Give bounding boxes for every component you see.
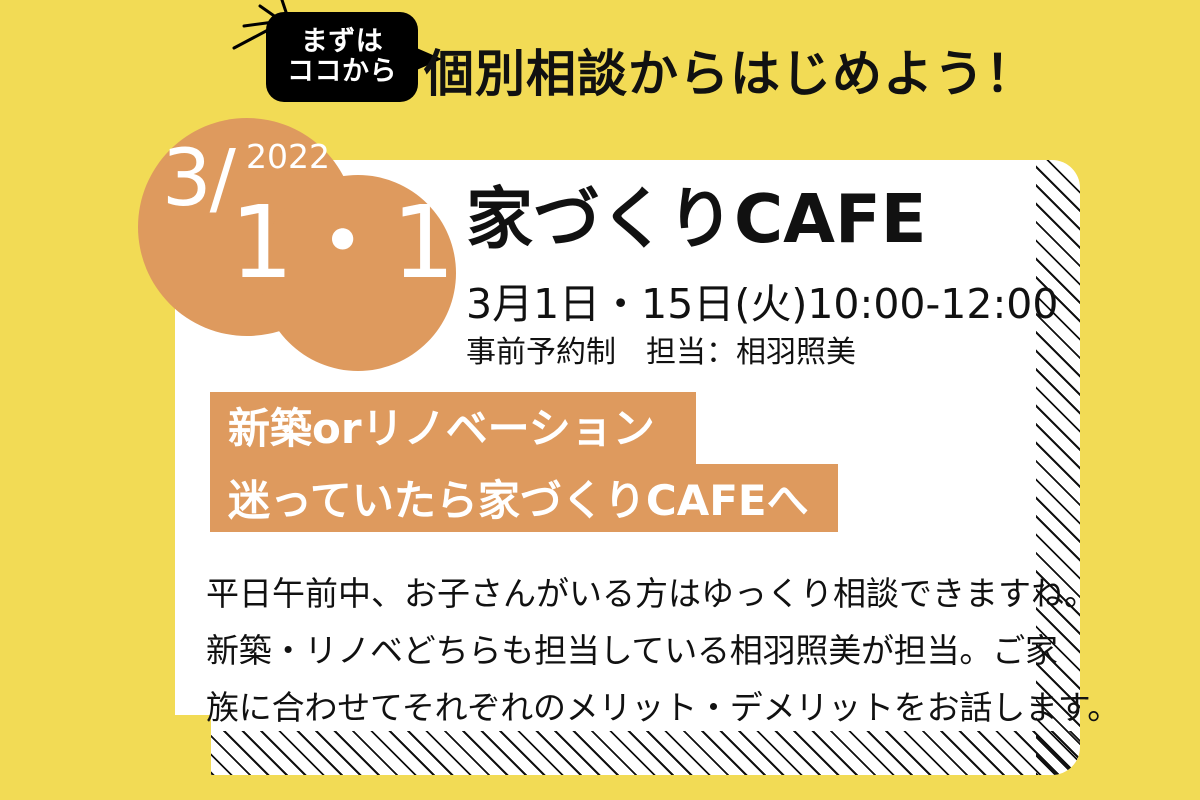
callout-line-2: ココから — [287, 57, 397, 87]
event-poster: まずは ココから 個別相談からはじめよう！ 3/ 2022 1・15 家づくりC… — [0, 0, 1200, 800]
date-badge: 3/ 2022 1・15 — [138, 118, 468, 343]
callout-bubble: まずは ココから — [266, 12, 418, 102]
page-headline: 個別相談からはじめよう！ — [424, 34, 1036, 106]
body-line-3: 族に合わせてそれぞれのメリット・デメリットをお話します。 — [206, 680, 1056, 737]
event-reservation-note: 事前予約制 担当：相羽照美 — [466, 338, 856, 368]
event-title: 家づくりCAFE — [466, 186, 927, 253]
body-paragraph: 平日午前中、お子さんがいる方はゆっくり相談できますね。 新築・リノベどちらも担当… — [206, 566, 1056, 736]
banner-line-1: 新築orリノベーション — [228, 408, 655, 450]
callout-line-1: まずは — [301, 27, 384, 57]
hatch-corner-notch — [163, 715, 211, 785]
date-month: 3/ — [162, 140, 234, 218]
highlight-banner: 新築orリノベーション 迷っていたら家づくりCAFEへ — [210, 392, 838, 532]
banner-line-2: 迷っていたら家づくりCAFEへ — [228, 480, 809, 522]
body-line-2: 新築・リノベどちらも担当している相羽照美が担当。ご家 — [206, 623, 1056, 680]
date-year: 2022 — [246, 140, 330, 173]
event-datetime: 3月1日・15日(火)10:00-12:00 — [466, 284, 1058, 325]
body-line-1: 平日午前中、お子さんがいる方はゆっくり相談できますね。 — [206, 566, 1056, 623]
